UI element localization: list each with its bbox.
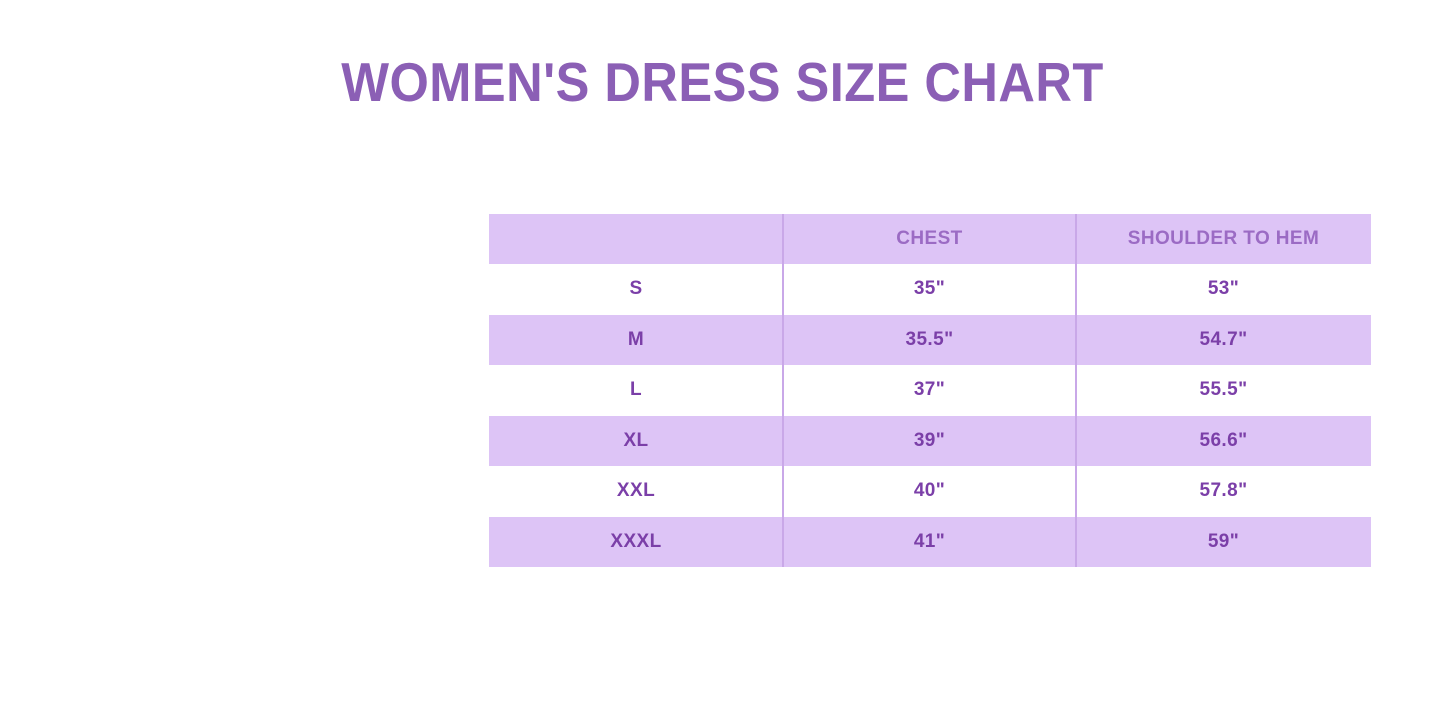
table-row: XXXL 41" 59" — [489, 517, 1371, 568]
table-row: L 37" 55.5" — [489, 365, 1371, 416]
cell-shoulder-to-hem: 57.8" — [1076, 466, 1371, 517]
table-header-row: CHEST SHOULDER TO HEM — [489, 214, 1371, 264]
cell-shoulder-to-hem: 59" — [1076, 517, 1371, 568]
column-header-chest: CHEST — [783, 214, 1076, 264]
cell-size: S — [489, 264, 783, 315]
column-divider-1 — [782, 214, 784, 567]
cell-size: XL — [489, 416, 783, 467]
table-row: XXL 40" 57.8" — [489, 466, 1371, 517]
cell-chest: 41" — [783, 517, 1076, 568]
cell-chest: 35" — [783, 264, 1076, 315]
cell-shoulder-to-hem: 55.5" — [1076, 365, 1371, 416]
cell-size: L — [489, 365, 783, 416]
table-header: CHEST SHOULDER TO HEM — [489, 214, 1371, 264]
cell-chest: 35.5" — [783, 315, 1076, 366]
table-body: S 35" 53" M 35.5" 54.7" L 37" 55.5" XL 3… — [489, 264, 1371, 567]
cell-size: XXXL — [489, 517, 783, 568]
table-row: XL 39" 56.6" — [489, 416, 1371, 467]
cell-size: XXL — [489, 466, 783, 517]
cell-chest: 39" — [783, 416, 1076, 467]
cell-shoulder-to-hem: 56.6" — [1076, 416, 1371, 467]
column-header-size — [489, 214, 783, 264]
column-header-shoulder-to-hem: SHOULDER TO HEM — [1076, 214, 1371, 264]
cell-size: M — [489, 315, 783, 366]
cell-shoulder-to-hem: 53" — [1076, 264, 1371, 315]
column-divider-2 — [1075, 214, 1077, 567]
cell-chest: 37" — [783, 365, 1076, 416]
cell-shoulder-to-hem: 54.7" — [1076, 315, 1371, 366]
table-row: S 35" 53" — [489, 264, 1371, 315]
size-chart-table: CHEST SHOULDER TO HEM S 35" 53" M 35.5" … — [489, 214, 1371, 567]
table-row: M 35.5" 54.7" — [489, 315, 1371, 366]
page-title: WOMEN'S DRESS SIZE CHART — [58, 52, 1387, 113]
cell-chest: 40" — [783, 466, 1076, 517]
